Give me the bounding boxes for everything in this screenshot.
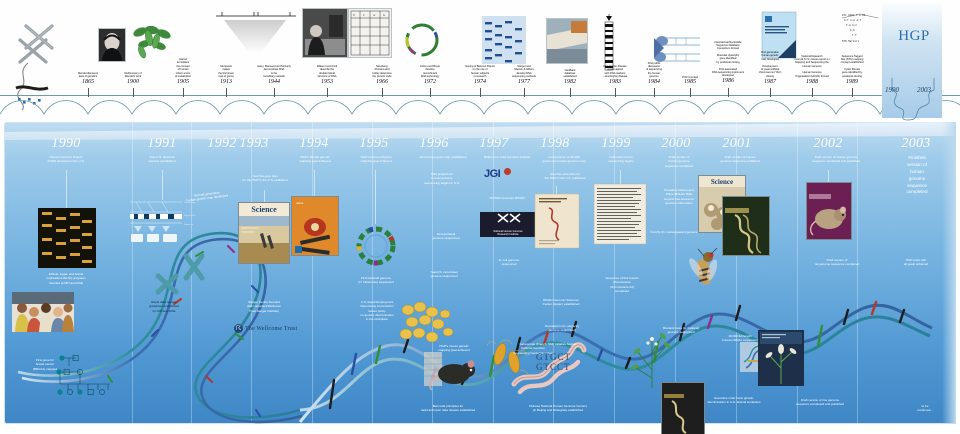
year-1993: 1993	[226, 136, 282, 152]
svg-text:C: C	[363, 13, 365, 17]
hgp-label: HGP	[888, 28, 940, 45]
event-1996-yeast-genome: Yeast (S. cerevisiae) genome sequenced	[410, 270, 478, 279]
event-1991-genome-centers: First U.S. Genome Centers established	[132, 155, 192, 164]
rice-poster-image	[758, 330, 804, 386]
dna-double-helix-artwork	[0, 122, 960, 424]
pre-hgp-year: 1989	[817, 79, 887, 85]
circular-genome-map-image	[352, 222, 400, 270]
svg-text:T-A G-C: T-A G-C	[846, 24, 857, 27]
gene-map-funnel-image	[222, 18, 288, 58]
pedigree-chart-image	[54, 352, 124, 396]
sequence-printout-image	[594, 184, 646, 244]
svg-text:nature: nature	[296, 201, 304, 205]
nature-cover-2001b-image: nature	[722, 196, 770, 256]
year-1996: 1996	[406, 136, 462, 152]
year-2001: 2001	[709, 136, 765, 152]
event-1999-full-scale: Full-scale human sequencing begins	[588, 155, 654, 164]
event-1998-roundworm: Roundworm (C. elegans) genome sequenced	[522, 324, 602, 333]
event-1990-elsi: Ethical, Legal, and Social Implications …	[8, 272, 124, 285]
year-1999: 1999	[588, 136, 644, 152]
fruit-fly-image	[684, 248, 724, 288]
event-1996-bermuda-principles: Bermuda principles for rapid and open da…	[394, 404, 502, 413]
year-1998: 1998	[527, 136, 583, 152]
sts-sequence-image: GTC AGGC C A GGA-T C-G A-T T-A G-CC-GT-T…	[840, 12, 880, 48]
pre-hgp-caption: Sequence Tagged Site (STS) mapping conce…	[817, 55, 887, 79]
children-photo-image	[12, 292, 74, 332]
event-1996-archaeal-genome: First archaeal genome sequenced	[414, 232, 478, 241]
nature-cover-2001-image: nature	[661, 382, 705, 434]
event-2002-rice-genome: Draft version of rice genome sequence co…	[760, 398, 880, 407]
year-1994: 1994	[286, 136, 342, 152]
year-1990: 1990	[8, 136, 124, 152]
event-2003-finished-version: Finished version of human genome sequenc…	[890, 155, 944, 196]
snp-line-2: GTCCT	[536, 362, 571, 372]
plasmid-map-image	[402, 20, 442, 60]
watson-crick-photo-image: UCAG	[348, 8, 392, 58]
event-1998-five-year-plan: New five-year plan for the HGP in the U.…	[522, 172, 608, 181]
sequencing-autorad-image	[38, 208, 96, 268]
event-1999-chromosome-22: Sequence of first human chromosome (chro…	[584, 276, 660, 293]
arabidopsis-plant-image	[628, 330, 678, 390]
pre-hgp-squiggle	[0, 92, 960, 126]
event-1994-genetic-map-goal: HGP's human genetic mapping goal achieve…	[282, 155, 348, 164]
nature-genetics-cover-image: genetics nature	[291, 196, 339, 256]
year-1995: 1995	[346, 136, 402, 152]
chromosome-pair-image	[152, 248, 212, 308]
event-2001-draft-published: Draft version of human genome sequence p…	[702, 155, 778, 164]
mouse-photo-image	[424, 352, 480, 394]
event-2002-mouse-genome: Draft version of mouse genome sequence c…	[786, 155, 886, 164]
science-cover-image: Science	[238, 202, 290, 264]
pre-hgp-item-1989: Sequence Tagged Site (STS) mapping conce…	[817, 55, 887, 85]
hgp-timeline-poster: UCAG	[0, 0, 960, 434]
pea-plant-image	[130, 24, 176, 60]
svg-text:A-T C-G A-T: A-T C-G A-T	[844, 19, 862, 22]
portrait-mendel-image	[98, 28, 126, 62]
footer-to-be-continued: to be continued...	[902, 404, 948, 413]
lab-photo-image	[302, 8, 348, 58]
svg-text:STS Markers: STS Markers	[842, 39, 860, 43]
year-2003: 2003	[888, 136, 944, 152]
snp-line-1: GTGCT	[536, 352, 571, 362]
jgi-logo: JGI	[484, 168, 511, 180]
jgi-label: JGI	[484, 168, 500, 180]
event-1996-pilot-projects: Pilot projects for human genome sequenci…	[408, 172, 476, 185]
event-1998-riken: RIKEN Genomic Sciences Center (Japan) es…	[518, 298, 604, 307]
event-1997-ecoli-genome: E. coli genome sequenced	[474, 258, 544, 267]
svg-text:Physical Map: Physical Map	[184, 215, 197, 217]
event-2002-rat-genome: Draft version of rat genome sequence com…	[792, 258, 882, 267]
event-1998-snp-initiative: SNP initiative begins	[522, 342, 602, 346]
nature-cover-mouse-image: nature	[806, 182, 852, 240]
year-1991: 1991	[134, 136, 190, 152]
hgp-bracket-squiggle	[882, 76, 944, 122]
event-1995-physical-map-goal: HGP's human physical mapping goal achiev…	[343, 155, 409, 164]
pre-hgp-band: UCAG	[0, 0, 960, 128]
wellcome-trust-logo: ☈ The Wellcome Trust	[234, 324, 297, 333]
event-1997-chinese-centers: Chinese National Human Genome Centers (i…	[500, 404, 616, 413]
nhgri-label: National Human Genome Research Institute	[481, 230, 535, 236]
year-1997: 1997	[466, 136, 522, 152]
snp-sequence-image: GTGCT GTCCT	[536, 352, 571, 373]
yeast-cells-image	[398, 300, 458, 348]
wellcome-badge-icon: ☈	[234, 324, 243, 333]
jgi-dot-icon	[504, 168, 511, 175]
event-1990-launch: Human Genome Project (HGP) launched in t…	[10, 155, 122, 164]
svg-text:Sequence: Sequence	[184, 224, 194, 226]
svg-text:T-T: T-T	[852, 34, 857, 37]
event-1993-five-year-plan: New five-year plan for the HGP in the U.…	[222, 174, 308, 183]
event-1993-sanger-centre: Sanger Centre founded (later renamed Wel…	[226, 300, 302, 313]
nhgri-logo: National Human Genome Research Institute	[480, 212, 536, 237]
genetic-physical-map-diagram-image: Genetic MapPhysical MapSequence	[128, 198, 198, 248]
linear-gene-map-scale	[214, 6, 298, 20]
computer-tape-photo-image	[546, 18, 588, 64]
svg-text:C-G: C-G	[850, 29, 855, 32]
event-1995-bacterial-genome: First bacterial genome (H. influenzae) s…	[340, 276, 412, 285]
wellcome-trust-label: The Wellcome Trust	[245, 326, 297, 332]
year-2000: 2000	[648, 136, 704, 152]
event-2003-hgp-ends: HGP ends with all goals achieved	[886, 258, 946, 267]
five-year-plan-cover-image	[535, 194, 579, 248]
sequencing-gel-image	[482, 16, 526, 64]
chromosome-ideogram-image	[602, 14, 616, 72]
year-2002: 2002	[800, 136, 856, 152]
